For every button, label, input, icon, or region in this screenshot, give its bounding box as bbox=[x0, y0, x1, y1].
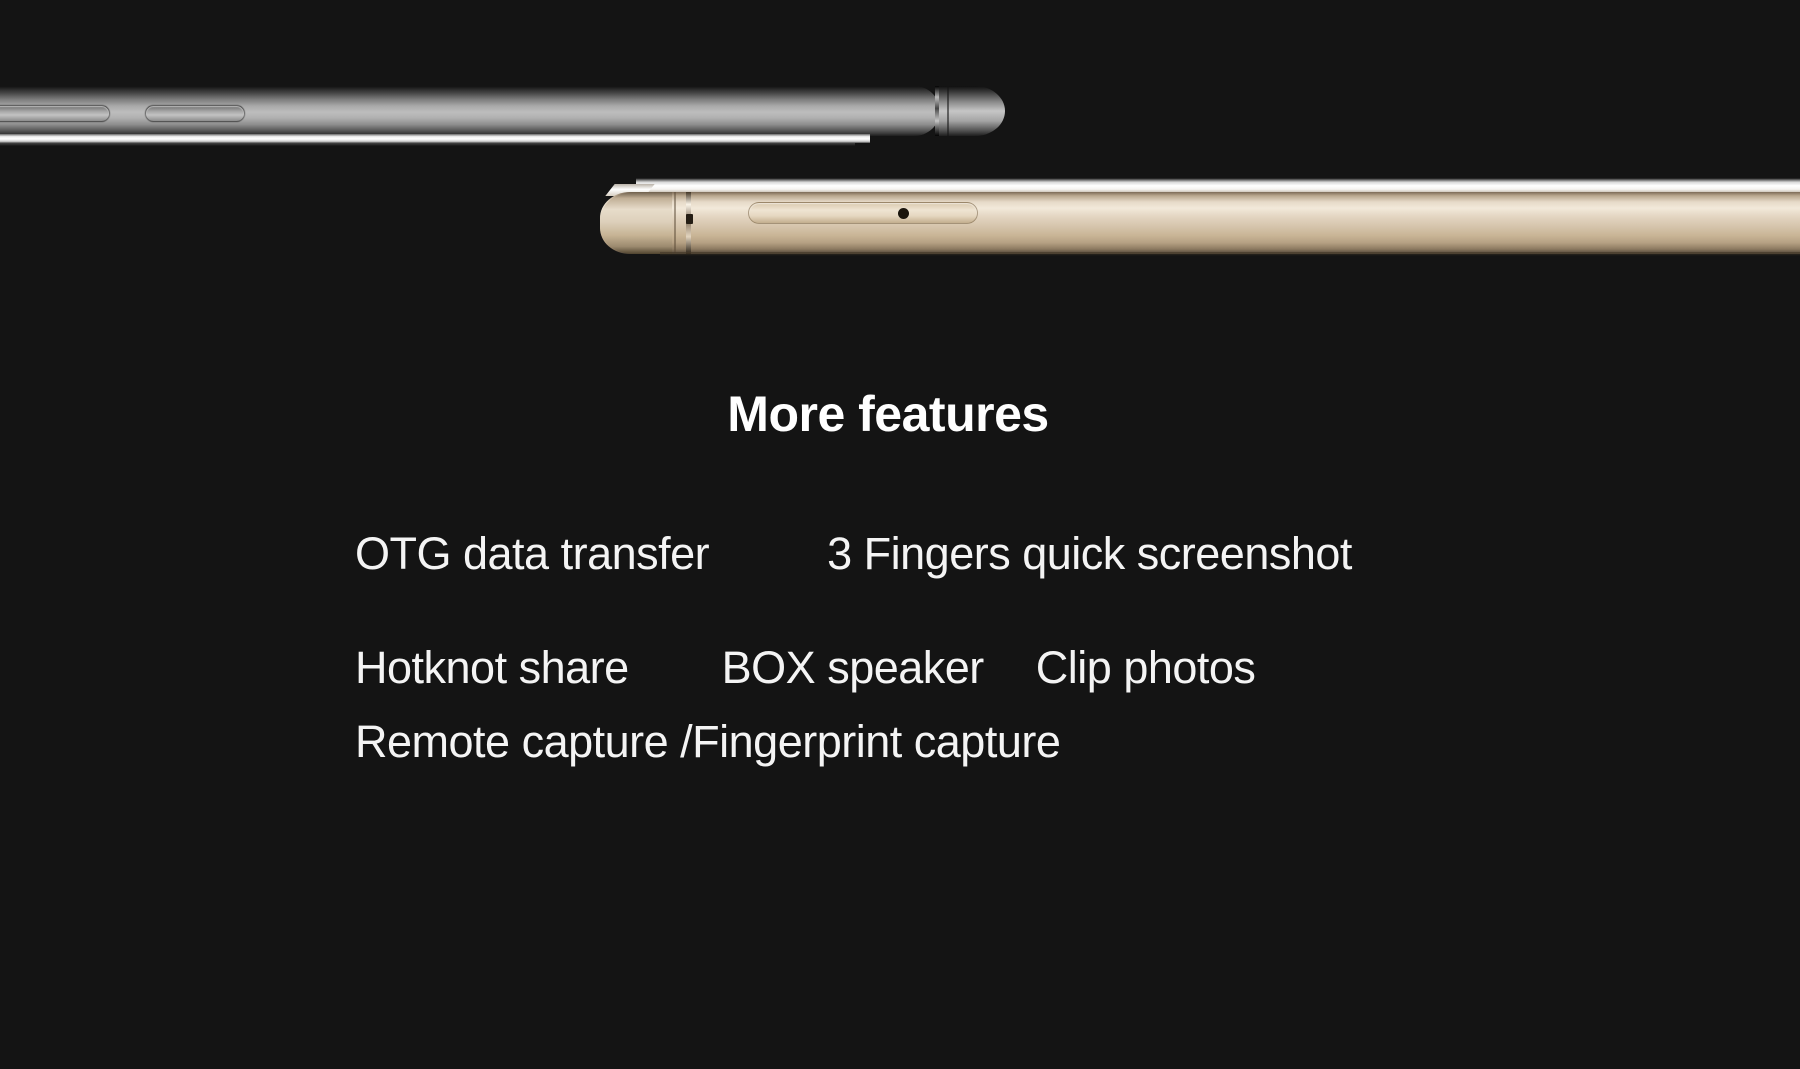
feature-item-hotknot-share: Hotknot share bbox=[355, 642, 629, 694]
feature-item-box-speaker: BOX speaker bbox=[722, 642, 984, 694]
feature-list: OTG data transfer 3 Fingers quick screen… bbox=[355, 528, 1555, 768]
gold-phone-side-profile bbox=[600, 178, 1800, 270]
grey-phone-volume-rocker-button bbox=[0, 105, 110, 122]
promo-page: More features OTG data transfer 3 Finger… bbox=[0, 0, 1800, 1069]
feature-item-otg-data-transfer: OTG data transfer bbox=[355, 528, 709, 580]
grey-phone-rounded-corner bbox=[935, 86, 1005, 136]
gold-phone-antenna-edge bbox=[674, 192, 676, 254]
feature-row: OTG data transfer 3 Fingers quick screen… bbox=[355, 528, 1555, 580]
gold-phone-lower-shadow bbox=[660, 252, 1800, 256]
feature-row: Hotknot share BOX speaker Clip photos bbox=[355, 642, 1555, 694]
grey-phone-bezel-shadow bbox=[0, 142, 855, 146]
grey-phone-body bbox=[0, 86, 940, 136]
grey-phone-side-profile bbox=[0, 86, 1005, 148]
feature-item-clip-photos: Clip photos bbox=[1036, 642, 1256, 694]
product-image-region bbox=[0, 0, 1800, 320]
grey-phone-antenna-line bbox=[935, 86, 939, 136]
gold-phone-sim-tray bbox=[748, 202, 978, 224]
grey-phone-power-button bbox=[145, 105, 245, 122]
page-title: More features bbox=[0, 385, 1776, 443]
feature-row: Remote capture /Fingerprint capture bbox=[355, 716, 1555, 768]
gold-phone-sim-eject-pinhole bbox=[898, 208, 909, 219]
feature-item-3-fingers-quick-screenshot: 3 Fingers quick screenshot bbox=[827, 528, 1352, 580]
gold-phone-rounded-corner bbox=[600, 192, 672, 254]
grey-phone-antenna-line-secondary bbox=[947, 86, 949, 136]
gold-phone-antenna-notch bbox=[686, 214, 693, 224]
feature-item-remote-capture-fingerprint-capture: Remote capture /Fingerprint capture bbox=[355, 716, 1060, 768]
